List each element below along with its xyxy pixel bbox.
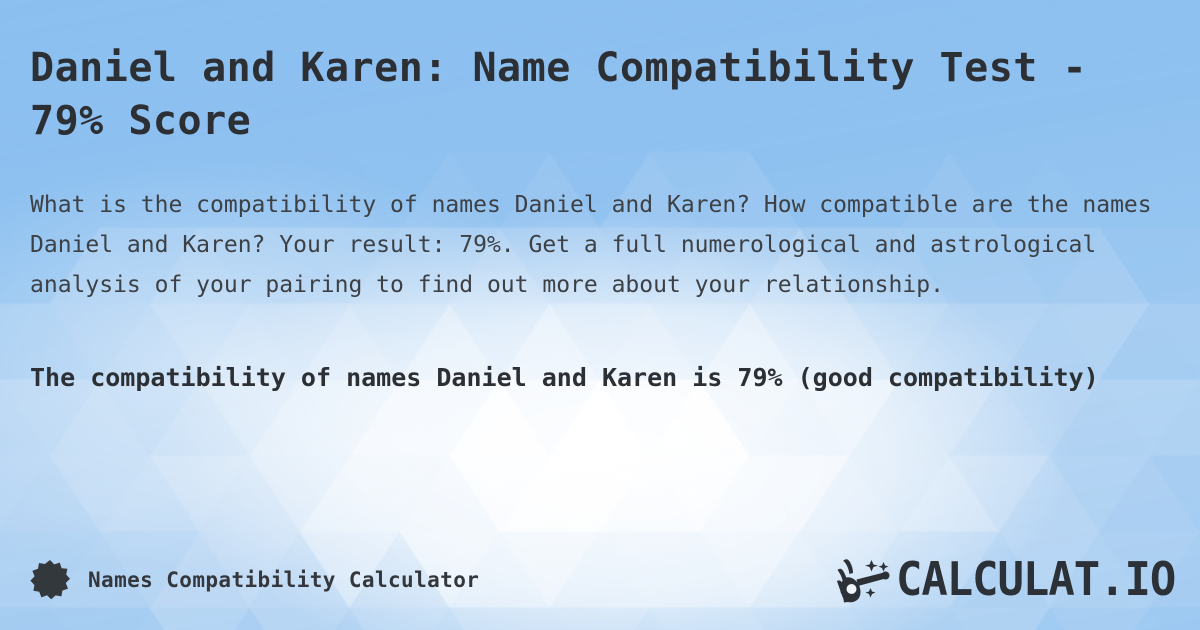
result-statement: The compatibility of names Daniel and Ka… [30,357,1170,399]
share-card: Daniel and Karen: Name Compatibility Tes… [0,0,1200,630]
calculatio-logo: CALCULAT.IO [836,556,1170,604]
magic-wand-hand-icon [836,556,894,604]
intro-description: What is the compatibility of names Danie… [30,185,1170,305]
page-title: Daniel and Karen: Name Compatibility Tes… [30,42,1170,148]
site-brand: Names Compatibility Calculator [30,559,479,601]
footer: Names Compatibility Calculator [30,552,1170,608]
site-brand-label: Names Compatibility Calculator [88,568,479,592]
calculatio-wordmark: CALCULAT.IO [896,557,1175,603]
starburst-badge-icon [30,559,70,601]
